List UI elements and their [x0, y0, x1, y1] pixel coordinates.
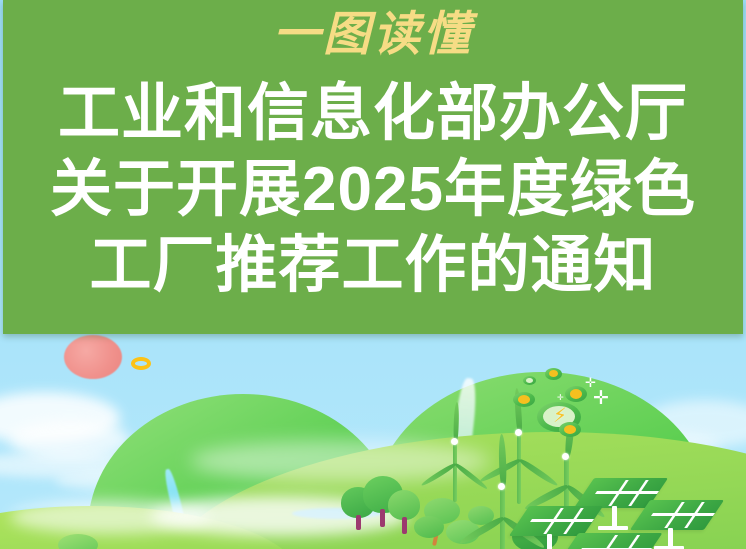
bush-icon — [58, 534, 98, 549]
tree-trunk — [380, 509, 385, 527]
turbine-mast — [453, 440, 457, 502]
solar-post — [612, 506, 617, 528]
cloud-icon — [10, 500, 210, 534]
solar-grid-line — [651, 513, 715, 516]
pink-balloon-icon — [64, 335, 122, 379]
kicker-text: 一图读懂 — [3, 6, 743, 61]
page-title: 工业和信息化部办公厅 关于开展2025年度绿色 工厂推荐工作的通知 — [3, 76, 743, 304]
tree-crown — [388, 490, 420, 520]
yellow-ring-icon — [131, 357, 151, 370]
tree-trunk — [356, 515, 361, 530]
sparkle-icon: ✛ — [557, 394, 564, 402]
tree-trunk — [402, 517, 407, 534]
energy-bubble-small-inner — [570, 389, 582, 399]
solar-foot — [598, 526, 628, 530]
turbine-hub — [562, 453, 569, 460]
solar-post — [547, 534, 552, 549]
title-banner: 一图读懂 工业和信息化部办公厅 关于开展2025年度绿色 工厂推荐工作的通知 — [3, 0, 743, 334]
headline-line-2: 关于开展2025年度绿色 — [3, 152, 743, 228]
bush-icon — [414, 516, 444, 538]
energy-bubble-small-inner — [518, 395, 530, 404]
energy-bubble-small-inner — [526, 378, 533, 383]
turbine-hub — [498, 483, 505, 490]
solar-grid-line — [530, 519, 594, 522]
energy-bubble-small-inner — [564, 425, 576, 434]
field-haze — [190, 440, 490, 482]
energy-bubble-group: ⚡ ✛ ✛ ✛ — [505, 372, 615, 444]
headline-line-3: 工厂推荐工作的通知 — [3, 228, 743, 304]
energy-bubble-small-inner — [549, 370, 558, 377]
solar-post — [668, 528, 673, 548]
poster: ⚡ ✛ ✛ ✛ 一图读懂 工业和信息化部办公厅 关于开展2025年度绿色 工厂推… — [0, 0, 746, 549]
solar-grid-line — [595, 491, 659, 494]
turbine-hub — [451, 438, 458, 445]
headline-line-1: 工业和信息化部办公厅 — [3, 76, 743, 152]
sparkle-icon: ✛ — [593, 389, 609, 408]
